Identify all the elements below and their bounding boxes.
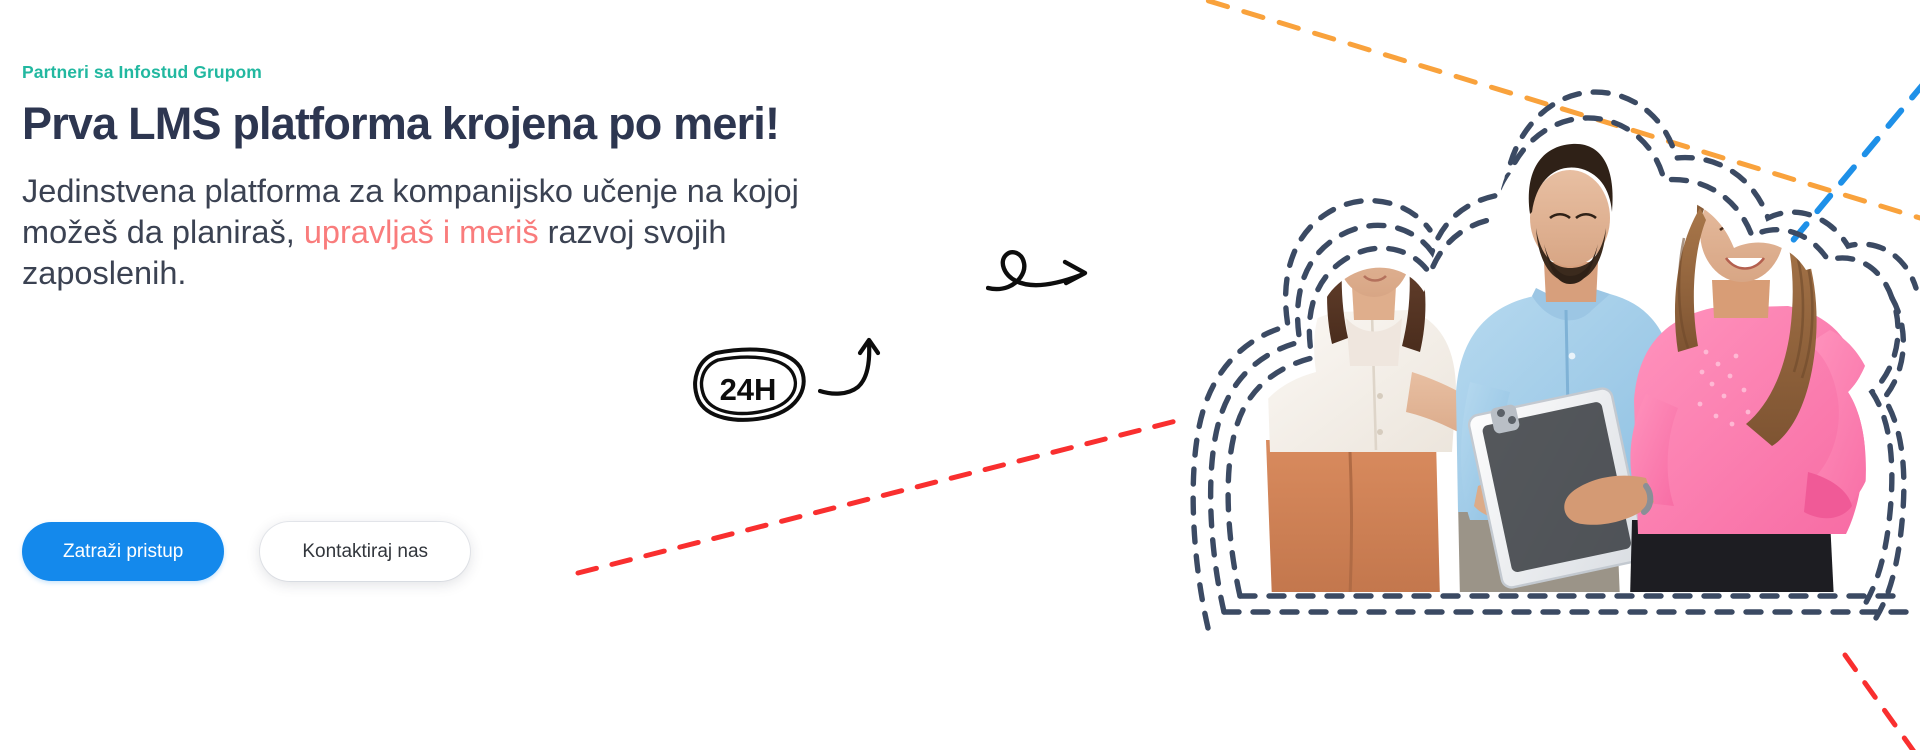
hero-copy: Partneri sa Infostud Grupom Prva LMS pla… — [22, 62, 982, 293]
hero-photo-collage — [1140, 0, 1920, 750]
request-access-button[interactable]: Zatraži pristup — [22, 522, 224, 581]
hero-subcopy: Jedinstvena platforma za kompanijsko uče… — [22, 171, 812, 293]
photo-people-group — [1140, 0, 1920, 750]
badge-24h-label: 24H — [720, 372, 777, 407]
red-dashed-line-icon — [578, 420, 1180, 573]
page-title: Prva LMS platforma krojena po meri! — [22, 99, 982, 149]
contact-us-button[interactable]: Kontaktiraj nas — [260, 522, 470, 581]
hero-subcopy-highlight: upravljaš i meriš — [304, 214, 539, 250]
badge-24h-doodle: 24H — [690, 345, 810, 425]
hero-eyebrow: Partneri sa Infostud Grupom — [22, 62, 982, 83]
loop-arrow-right-doodle-icon — [986, 243, 1106, 303]
photo-illustration — [1140, 0, 1920, 750]
hero-section: Partneri sa Infostud Grupom Prva LMS pla… — [0, 0, 1920, 750]
cta-button-row: Zatraži pristup Kontaktiraj nas — [22, 522, 470, 581]
curved-up-arrow-doodle-icon — [818, 337, 918, 417]
